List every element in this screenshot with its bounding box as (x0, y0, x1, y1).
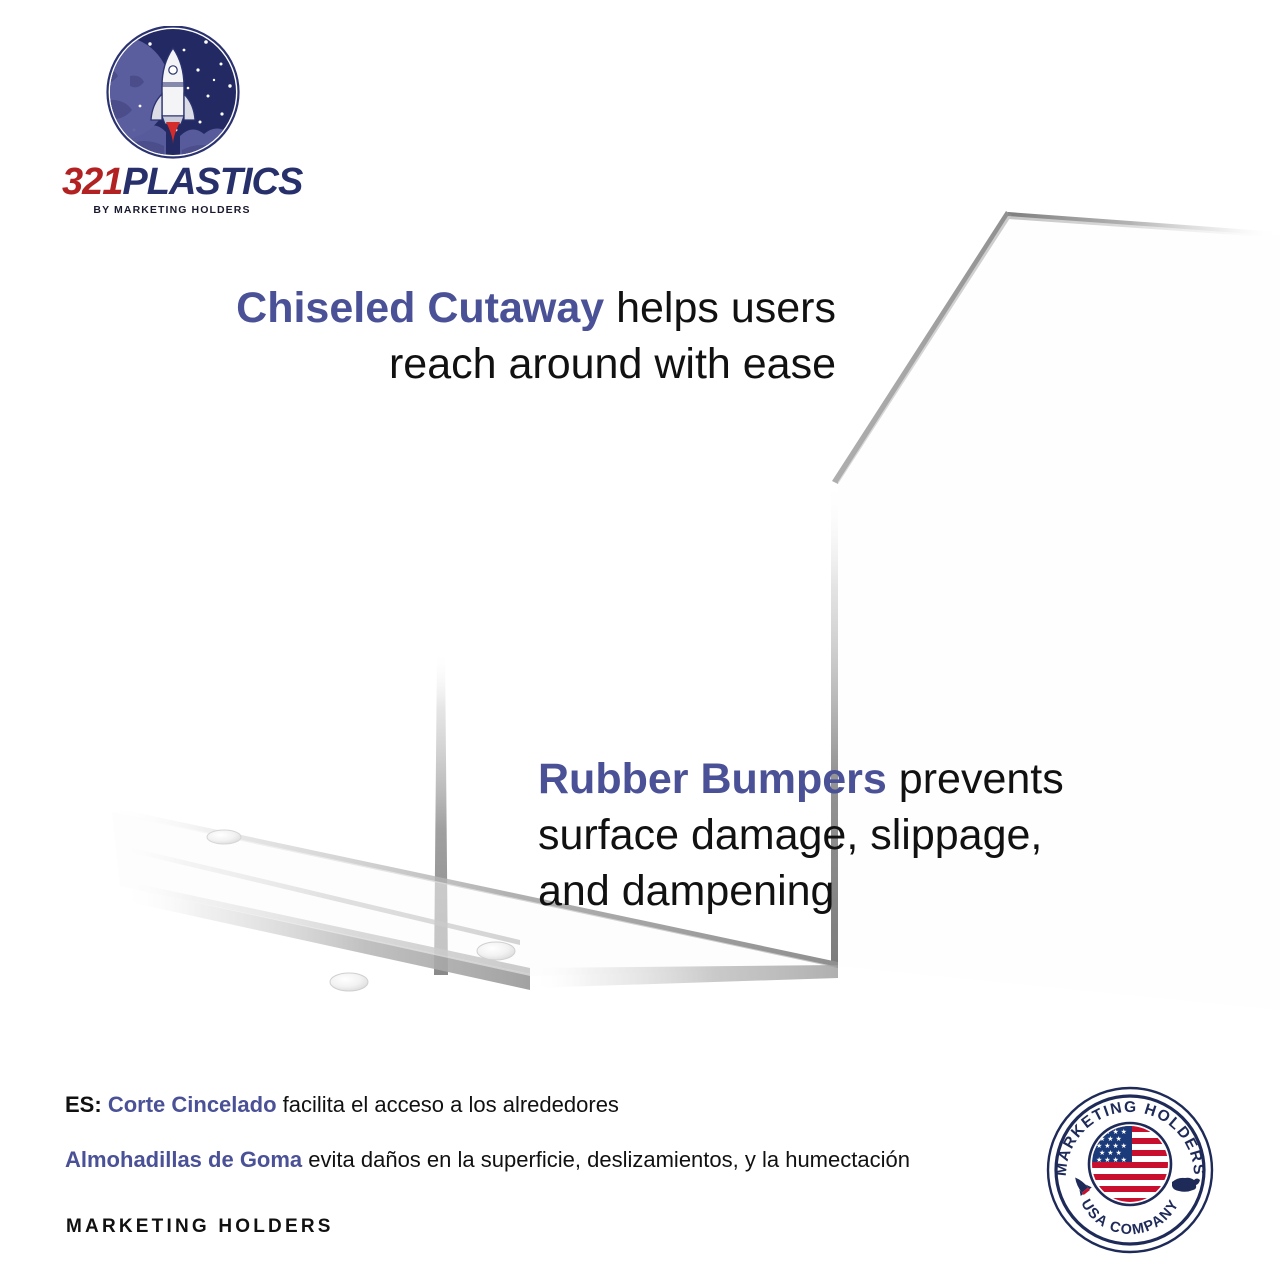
spanish-prefix: ES: (65, 1092, 102, 1117)
spanish-accent-corte-cincelado: Corte Cincelado (108, 1092, 277, 1117)
spanish-line-cutaway: ES: Corte Cincelado facilita el acceso a… (65, 1090, 965, 1119)
svg-text:★ ★ ★ ★: ★ ★ ★ ★ (1096, 1142, 1127, 1150)
brand-word-primary: 321 (62, 161, 122, 203)
base-front-face (120, 886, 530, 990)
spanish-body-corte-cincelado: facilita el acceso a los alrededores (277, 1092, 619, 1117)
headline-accent-chiseled-cutaway: Chiseled Cutaway (236, 284, 604, 332)
spanish-translation-block: ES: Corte Cincelado facilita el acceso a… (65, 1090, 965, 1174)
riser-top-edge (1008, 212, 1280, 238)
headline-chiseled-cutaway: Chiseled Cutaway helps users reach aroun… (180, 281, 836, 393)
brand-logo[interactable]: 321PLASTICS BY MARKETING HOLDERS (62, 26, 282, 206)
marketing-holders-usa-badge[interactable]: ★ ★ ★ ★ ★ ★ ★ ★ ★ ★ ★ ★ ★ ★ ★ ★ ★ ★ MARK… (1044, 1084, 1216, 1256)
brand-word-secondary: PLASTICS (122, 161, 302, 203)
spanish-body-almohadillas: evita daños en la superficie, deslizamie… (302, 1147, 910, 1172)
rubber-bumper (477, 942, 515, 960)
footer-brand-text: MARKETING HOLDERS (66, 1216, 334, 1238)
spanish-accent-almohadillas: Almohadillas de Goma (65, 1147, 302, 1172)
rubber-bumper (207, 830, 241, 844)
product-feature-graphic: 321PLASTICS BY MARKETING HOLDERS Chisele… (0, 0, 1280, 1280)
spanish-line-bumpers: Almohadillas de Goma evita daños en la s… (65, 1145, 965, 1174)
chiseled-cutaway-edge (832, 211, 1012, 484)
brand-tagline: BY MARKETING HOLDERS (62, 204, 282, 216)
headline-rubber-bumpers: Rubber Bumpers prevents surface damage, … (538, 752, 1108, 920)
base-front-top-edge (120, 880, 530, 974)
svg-text:★ ★ ★: ★ ★ ★ (1099, 1149, 1122, 1157)
base-inner-line (112, 843, 520, 945)
base-right-end (530, 965, 838, 988)
rubber-bumper (330, 973, 368, 991)
riser-support-rib (434, 650, 448, 975)
brand-wordmark: 321PLASTICS (62, 163, 282, 201)
svg-text:★ ★ ★ ★: ★ ★ ★ ★ (1096, 1156, 1127, 1164)
rocket-globe-icon (88, 26, 258, 166)
headline-accent-rubber-bumpers: Rubber Bumpers (538, 755, 887, 803)
